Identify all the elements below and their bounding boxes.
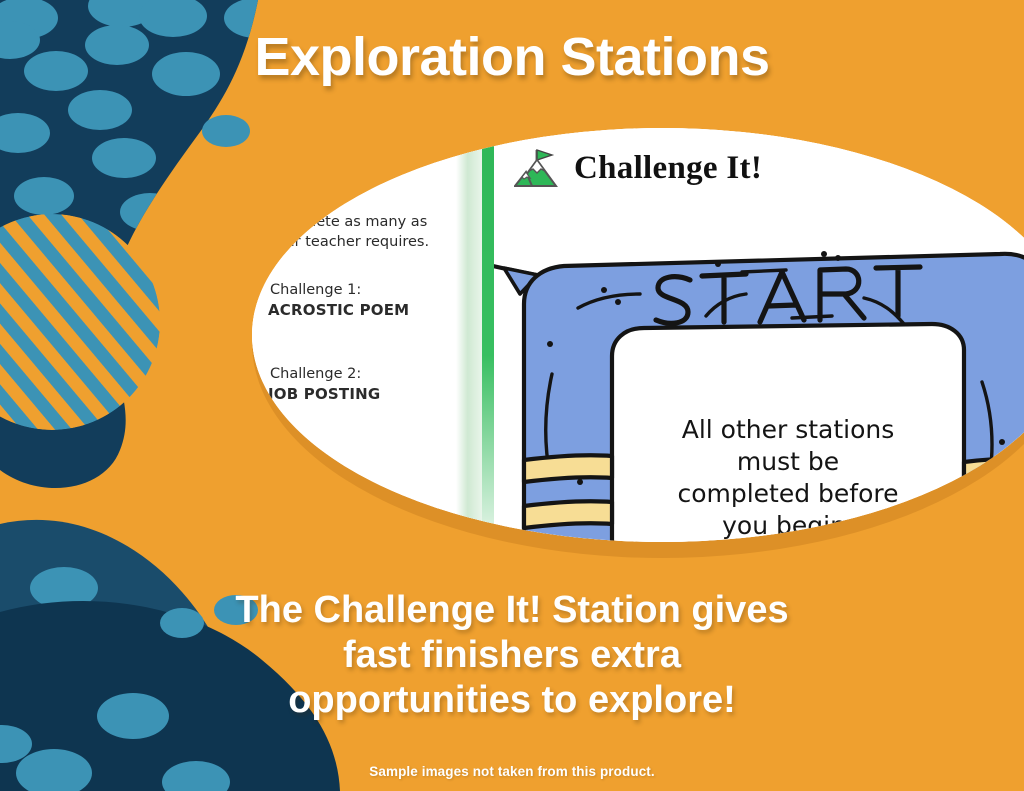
challenge-heading-text: Challenge It! bbox=[574, 150, 762, 187]
caption-line-1: The Challenge It! Station gives bbox=[0, 588, 1024, 633]
left-page-fragment-4: your teacher requires. bbox=[268, 232, 429, 253]
sample-image-oval: on the es. omplete as many as your teach… bbox=[252, 128, 1024, 558]
poster-canvas: Exploration Stations on the es. omplete … bbox=[0, 0, 1024, 791]
challenge-1-label: Challenge 1: bbox=[270, 280, 361, 301]
caption-block: The Challenge It! Station gives fast fin… bbox=[0, 588, 1024, 722]
arch-band-right bbox=[964, 459, 1024, 484]
left-page-fragment-3: omplete as many as bbox=[280, 212, 427, 233]
start-arch-illustration: All other stations must be completed bef… bbox=[494, 224, 1024, 542]
challenge-1-name: ACROSTIC POEM bbox=[268, 300, 409, 322]
worksheet-right-page: Challenge It! bbox=[494, 128, 1024, 542]
challenge-heading-row: Challenge It! bbox=[514, 146, 762, 190]
caption-line-2: fast finishers extra bbox=[0, 633, 1024, 678]
loose-teal-dots bbox=[160, 115, 258, 638]
caption-line-3: opportunities to explore! bbox=[0, 678, 1024, 723]
challenge-3-label: enge 3: bbox=[274, 448, 329, 469]
challenge-3-name: ING bbox=[272, 468, 303, 490]
challenge-2-name: JOB POSTING bbox=[268, 384, 380, 406]
page-divider-gradient bbox=[456, 128, 482, 542]
arch-note-line-3: completed before bbox=[677, 479, 898, 508]
arch-note-line-2: must be bbox=[737, 447, 839, 476]
left-page-fragment-1: on the bbox=[370, 152, 416, 173]
worksheet-left-page: on the es. omplete as many as your teach… bbox=[252, 128, 488, 542]
oval-photo-clip: on the es. omplete as many as your teach… bbox=[252, 128, 1024, 542]
disclaimer-text: Sample images not taken from this produc… bbox=[0, 764, 1024, 779]
left-page-fragment-2: es. bbox=[344, 174, 365, 195]
arch-note-line-4: you begin. bbox=[722, 511, 854, 540]
page-title: Exploration Stations bbox=[0, 26, 1024, 88]
challenge-2-label: Challenge 2: bbox=[270, 364, 361, 385]
mountain-flag-icon bbox=[514, 146, 560, 190]
arch-note: All other stations must be completed bef… bbox=[677, 415, 898, 540]
page-divider-green-bar bbox=[482, 128, 494, 542]
worksheet-photo: on the es. omplete as many as your teach… bbox=[252, 128, 1024, 542]
striped-circle bbox=[0, 214, 160, 430]
arch-note-line-1: All other stations bbox=[682, 415, 895, 444]
